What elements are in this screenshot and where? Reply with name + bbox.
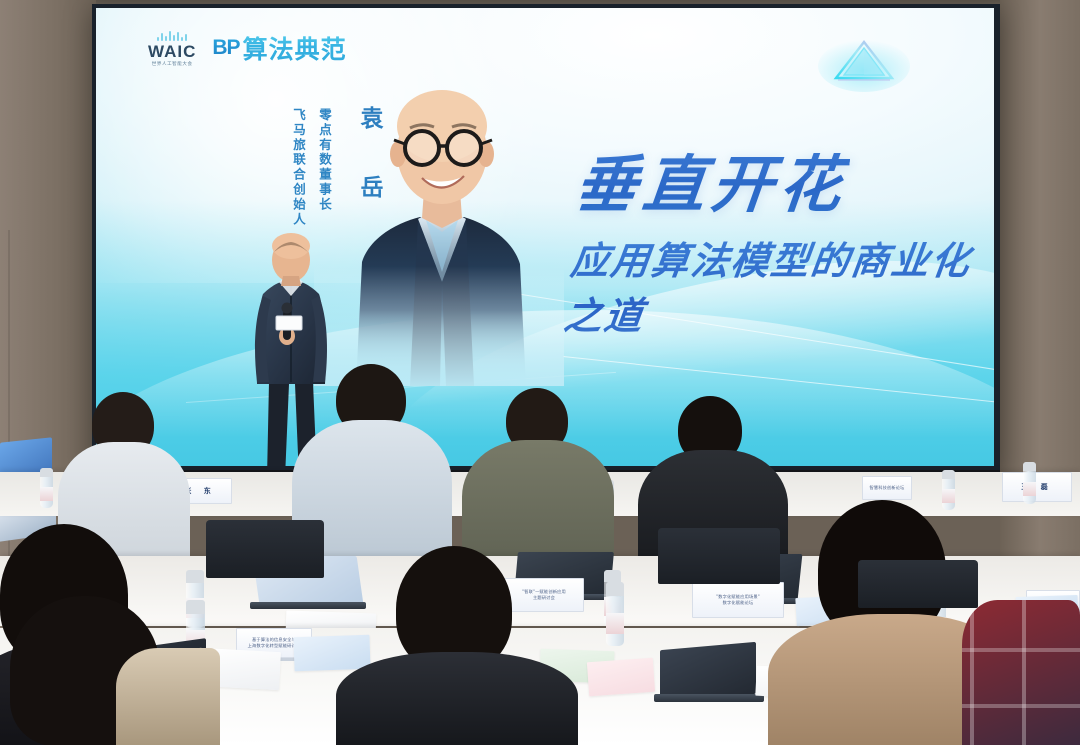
bottle-9 xyxy=(606,582,624,646)
waic-wordmark: WAIC xyxy=(148,43,196,60)
chair-1 xyxy=(206,520,324,578)
placard-left-line2: 上海数字化转型赋能研讨会 xyxy=(248,643,301,649)
placard-center-line2: 主题研讨会 xyxy=(533,595,555,601)
speaker-title-1: 零点有数董事长 xyxy=(315,108,334,227)
placard-far-right: 智慧科技创新论坛 xyxy=(862,476,912,500)
nameplate-right: 王 磊 xyxy=(1002,472,1072,502)
bottle-2 xyxy=(942,470,955,510)
waic-dots-icon xyxy=(157,30,187,41)
chair-3 xyxy=(858,560,978,608)
placard-far-right-line1: 智慧科技创新论坛 xyxy=(869,485,904,491)
slide-subtitle: 应用算法模型的商业化之道 xyxy=(561,230,994,340)
slide-speaker-titles: 飞马旅联合创始人 零点有数董事长 xyxy=(289,108,334,227)
program-logo: BP 算法典范 xyxy=(212,30,346,66)
placard-right-line2: 数字化赋能论坛 xyxy=(723,600,754,606)
chair-2 xyxy=(658,528,780,584)
program-name: 算法典范 xyxy=(243,30,347,66)
slide-logo-row: WAIC 世界人工智能大会 BP 算法典范 xyxy=(148,30,347,67)
prism-icon xyxy=(818,30,910,92)
placard-center: "智联"—赋能创新应用 主题研讨会 xyxy=(504,578,584,612)
screenshot-root: WAIC 世界人工智能大会 BP 算法典范 xyxy=(0,0,1080,745)
bottle-3 xyxy=(1023,462,1036,504)
waic-logo: WAIC 世界人工智能大会 xyxy=(148,30,196,67)
slide-speaker-name: 袁 岳 xyxy=(352,106,386,208)
placard-right: "数字化赋能应用场景" 数字化赋能论坛 xyxy=(692,582,784,618)
waic-subtitle: 世界人工智能大会 xyxy=(152,62,193,67)
speaker-title-2: 飞马旅联合创始人 xyxy=(289,108,308,227)
document-7 xyxy=(587,658,655,697)
slide-title: 垂直开花 xyxy=(571,134,852,224)
document-5 xyxy=(293,635,370,672)
program-mark: BP xyxy=(212,36,239,60)
bottle-1 xyxy=(40,468,53,508)
